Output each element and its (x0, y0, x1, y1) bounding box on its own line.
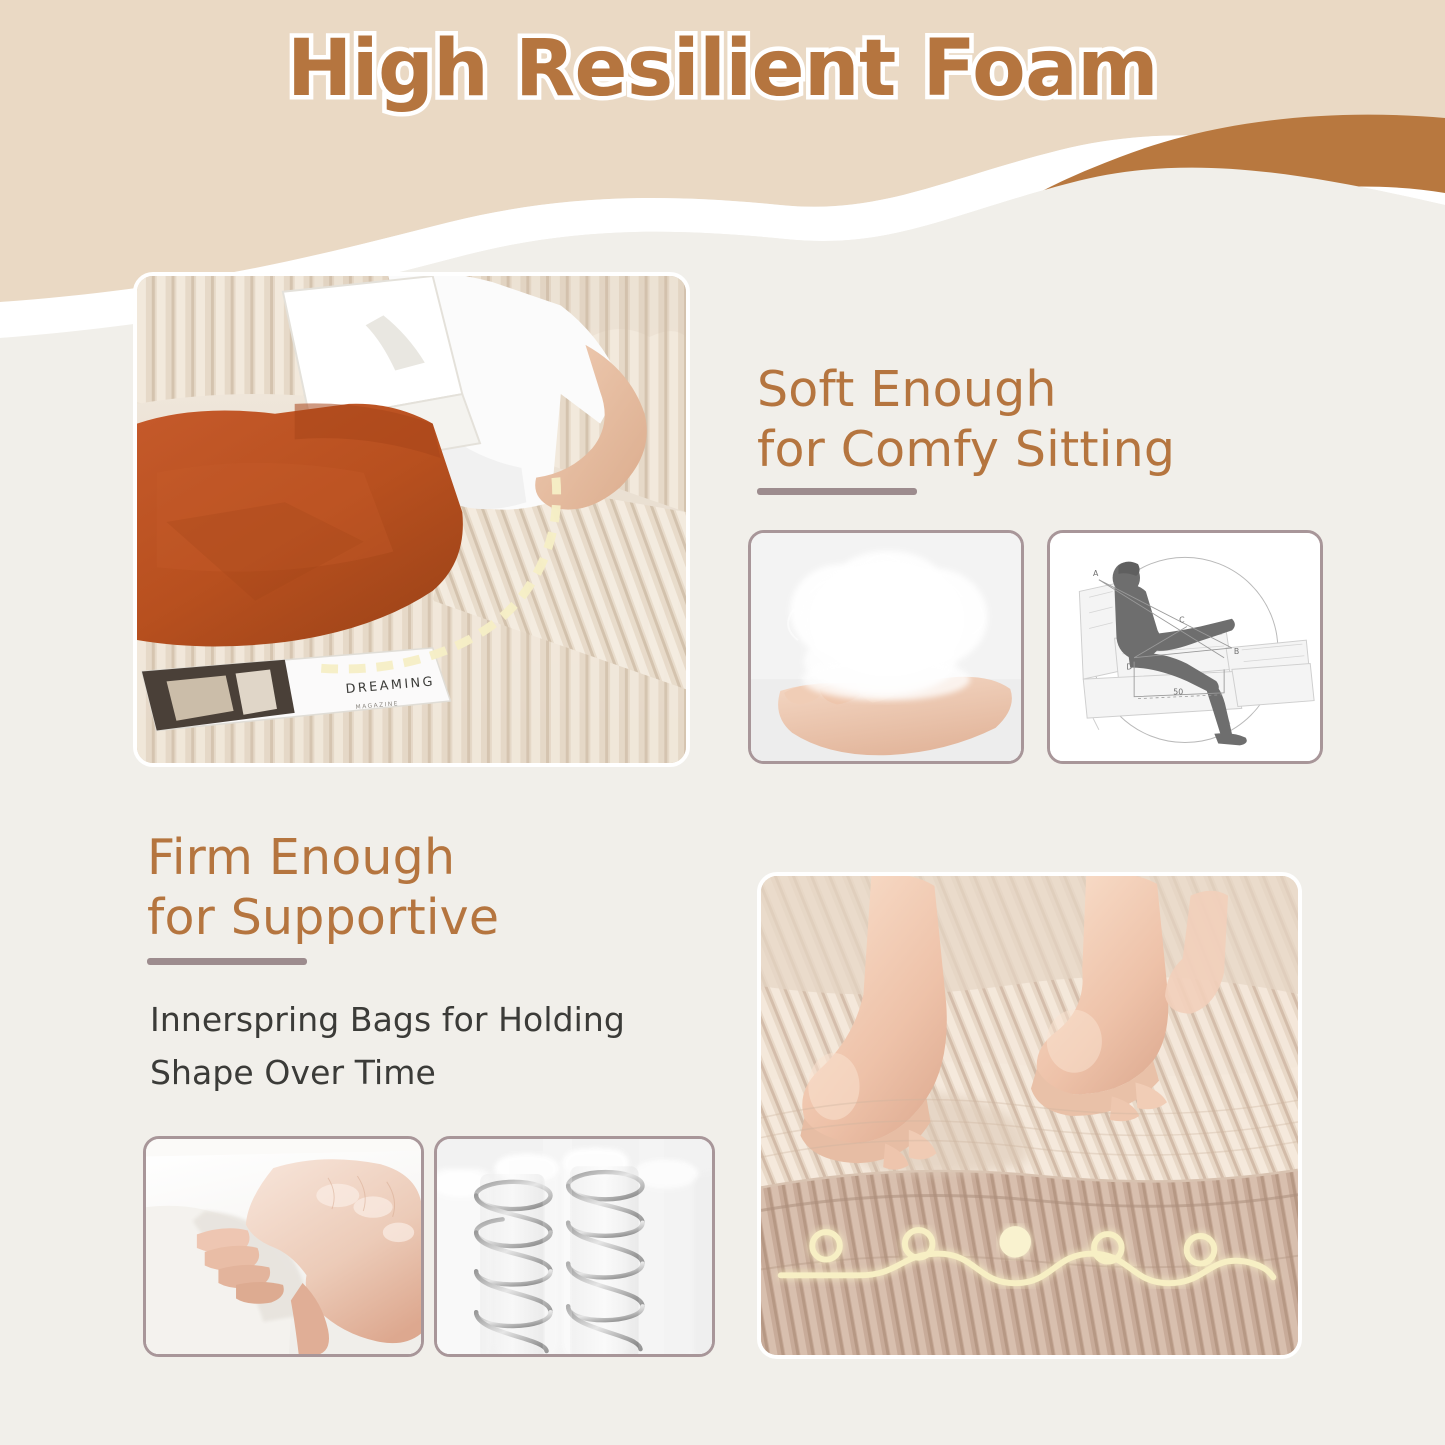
svg-text:50: 50 (1173, 688, 1183, 697)
svg-text:A: A (1093, 569, 1099, 578)
page-title: High Resilient Foam (287, 24, 1158, 114)
hand-pressing-foam-card (143, 1136, 424, 1357)
firm-heading-line1: Firm Enough (147, 828, 499, 888)
svg-text:C: C (1179, 616, 1185, 625)
soft-heading: Soft Enough for Comfy Sitting (757, 360, 1175, 480)
ergonomic-seating-diagram-card: A B C D 50 (1047, 530, 1323, 764)
firm-body-text: Innerspring Bags for Holding Shape Over … (150, 993, 690, 1100)
firm-heading-rule (147, 958, 307, 965)
svg-text:D: D (1126, 662, 1132, 671)
feet-standing-on-cushion-photo (757, 872, 1302, 1359)
soft-heading-rule (757, 488, 917, 495)
firm-body-line1: Innerspring Bags for Holding (150, 993, 690, 1046)
svg-text:B: B (1234, 647, 1239, 656)
fiberfill-in-hand-card (748, 530, 1024, 764)
soft-heading-line1: Soft Enough (757, 360, 1175, 420)
firm-heading: Firm Enough for Supportive (147, 828, 499, 948)
page-title-wrap: High Resilient Foam (0, 24, 1445, 114)
soft-heading-line2: for Comfy Sitting (757, 420, 1175, 480)
pocket-coil-springs-card (434, 1136, 715, 1357)
firm-heading-line2: for Supportive (147, 888, 499, 948)
person-reading-on-sofa-photo: DREAMING MAGAZINE (133, 272, 690, 767)
firm-body-line2: Shape Over Time (150, 1046, 690, 1099)
